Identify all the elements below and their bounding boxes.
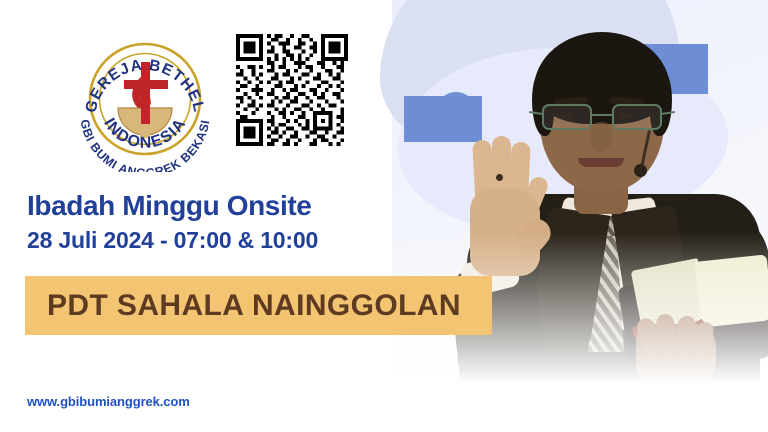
eyeglasses-icon	[542, 104, 662, 130]
page-title: Ibadah Minggu Onsite	[27, 191, 311, 220]
poster-canvas: GEREJA BETHEL INDONESIA GBI BUMI ANGGREK…	[0, 0, 768, 432]
headset-mic-icon	[634, 164, 647, 177]
speaker-name: PDT SAHALA NAINGGOLAN	[47, 289, 461, 323]
website-link[interactable]: www.gbibumianggrek.com	[27, 394, 190, 409]
mouth	[578, 158, 624, 167]
service-schedule: 28 Juli 2024 - 07:00 & 10:00	[27, 228, 318, 252]
gbi-logo: GEREJA BETHEL INDONESIA GBI BUMI ANGGREK…	[72, 26, 218, 172]
speaker-name-banner: PDT SAHALA NAINGGOLAN	[25, 276, 492, 335]
qr-code[interactable]	[236, 34, 348, 146]
